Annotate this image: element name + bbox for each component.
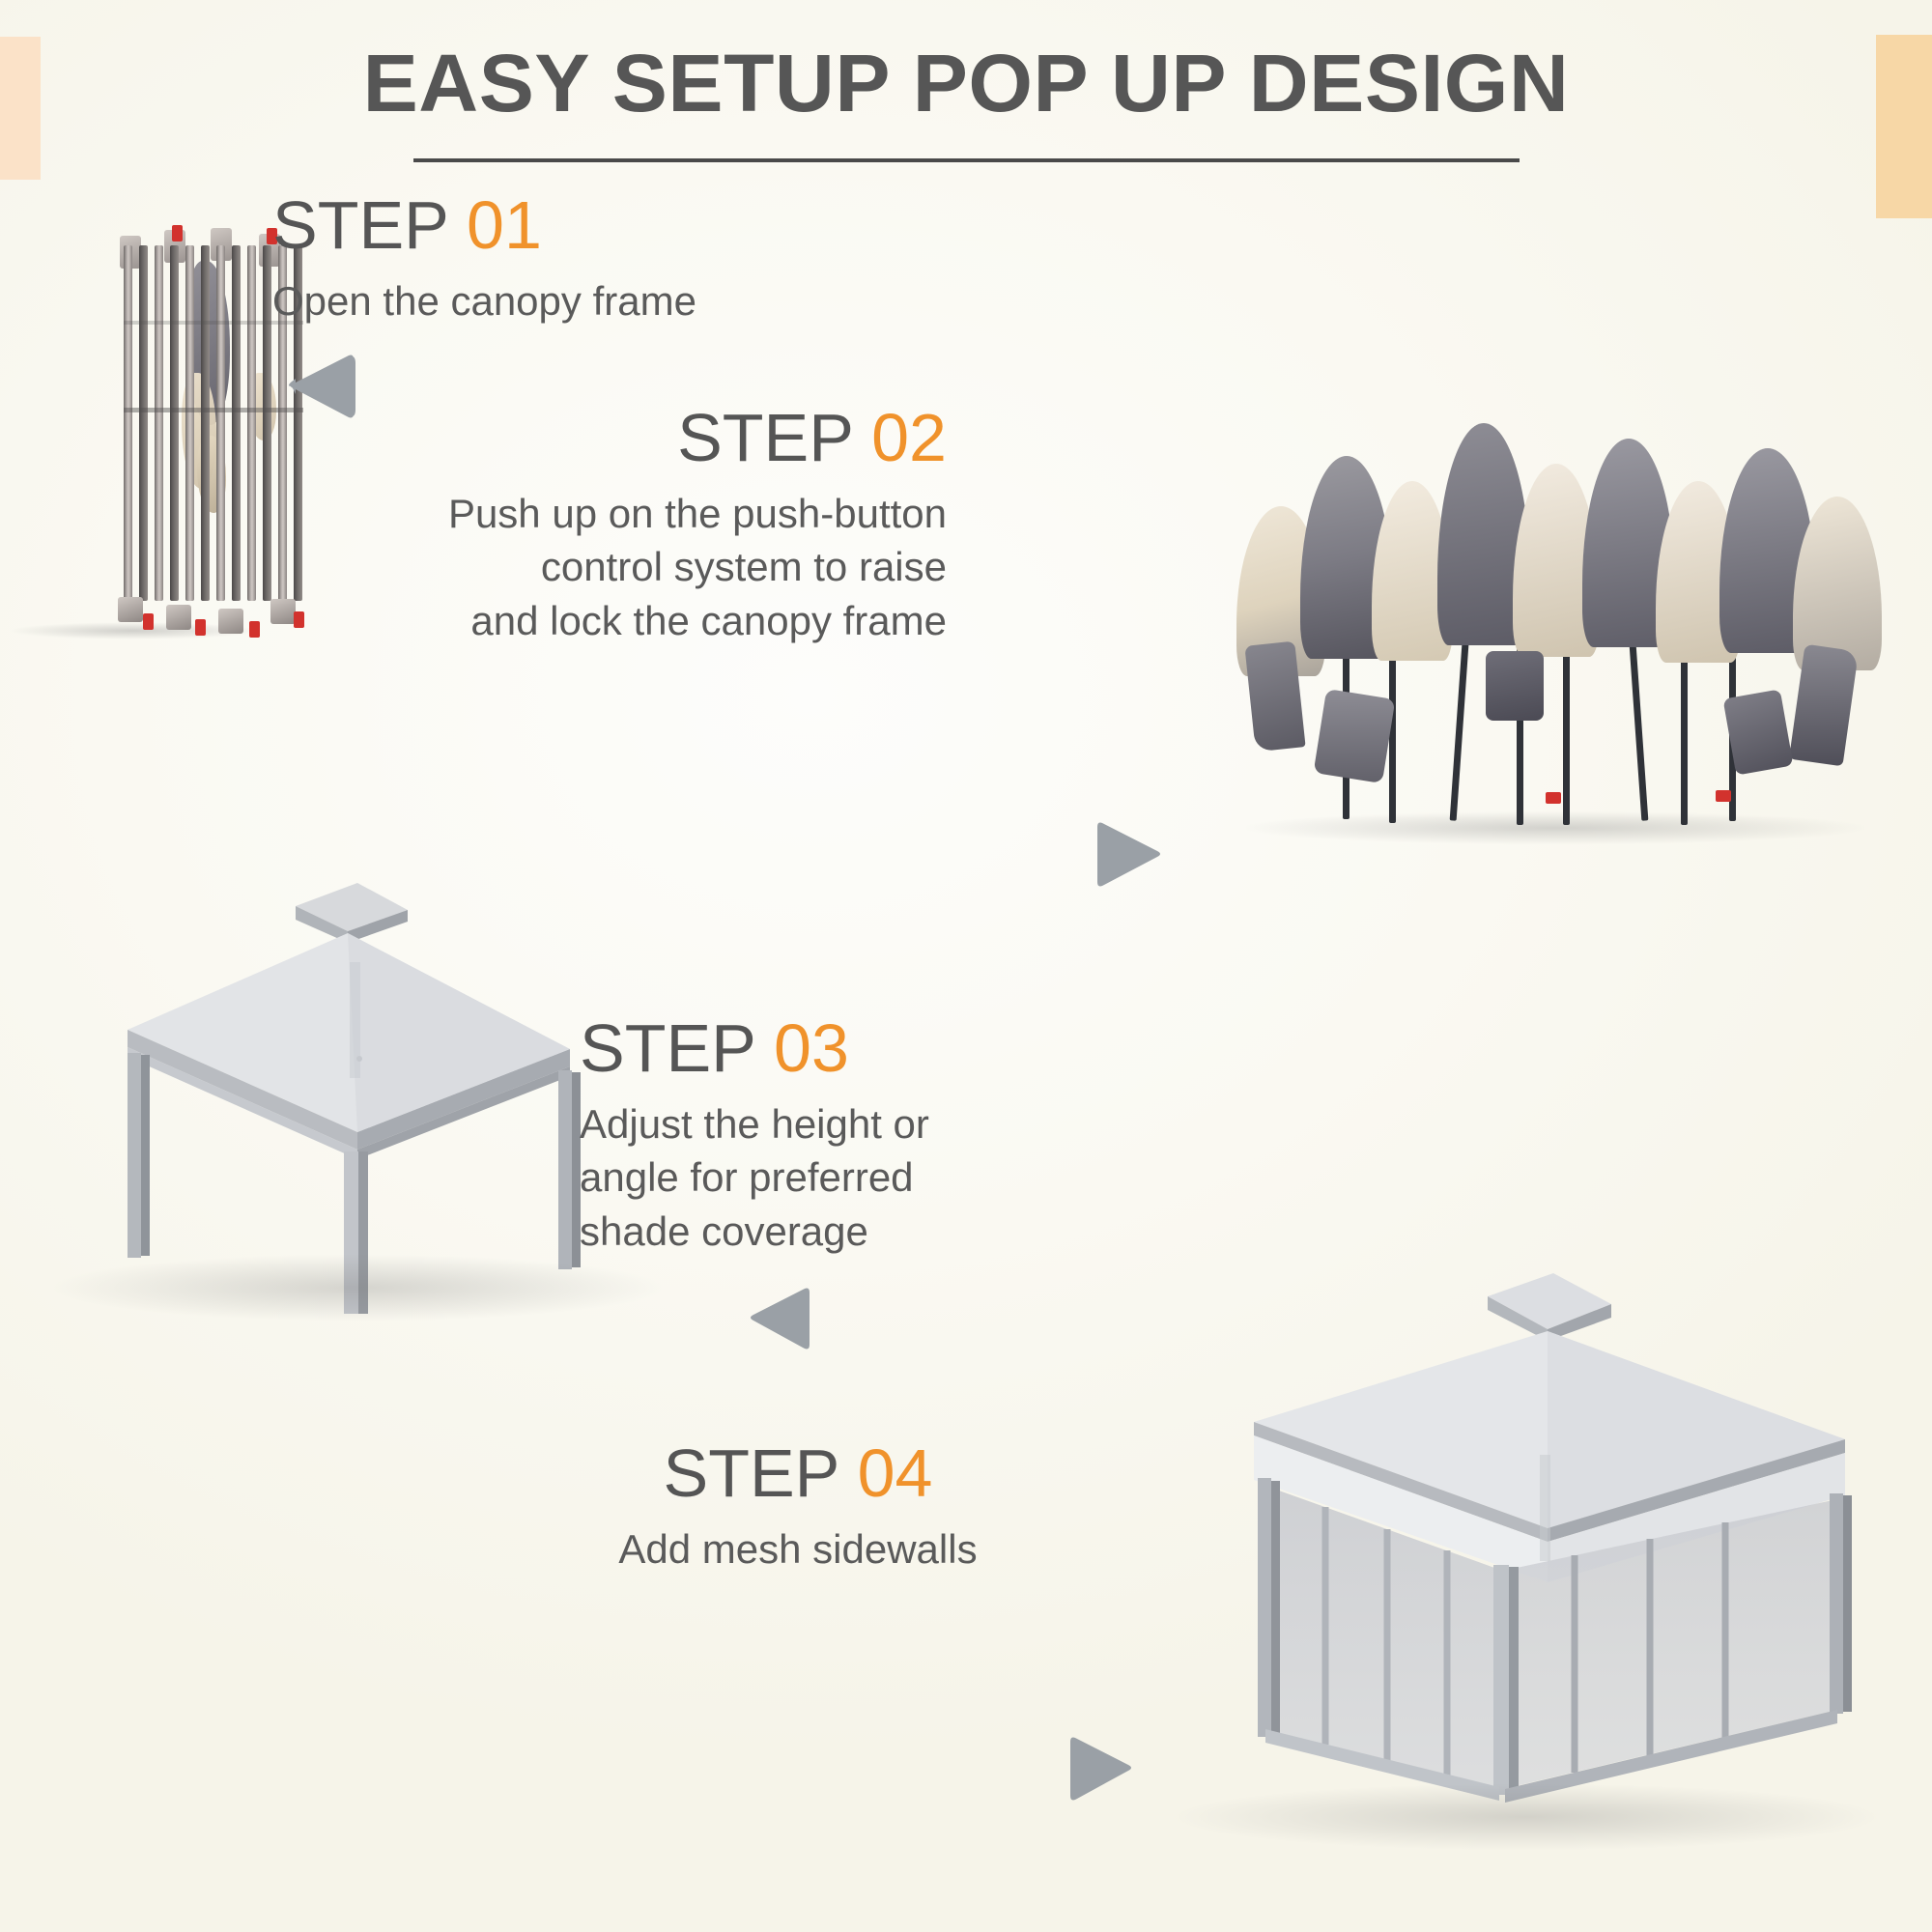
image-shadow xyxy=(1169,1783,1884,1851)
open-gazebo-canopy-image xyxy=(68,869,667,1314)
partially-raised-canopy-image xyxy=(1227,404,1893,848)
step-heading-1: STEP 01 xyxy=(272,191,891,259)
step-description-3: Adjust the height or angle for preferred… xyxy=(580,1097,985,1258)
step-heading-4: STEP 04 xyxy=(547,1439,1049,1507)
title-divider xyxy=(413,158,1520,162)
step-description-3-line-2: angle for preferred xyxy=(580,1151,985,1204)
step-number-2: 02 xyxy=(871,400,947,475)
step-label-1: STEP xyxy=(272,187,448,263)
step-description-4: Add mesh sidewalls xyxy=(547,1522,1049,1576)
step-number-3: 03 xyxy=(774,1010,849,1086)
step-label-2: STEP xyxy=(677,400,853,475)
step-description-2: Push up on the push-button control syste… xyxy=(406,487,947,647)
step-label-3: STEP xyxy=(580,1010,755,1086)
infographic-page: EASY SETUP POP UP DESIGN xyxy=(0,0,1932,1932)
page-title: EASY SETUP POP UP DESIGN xyxy=(0,41,1932,126)
step-description-2-line-2: control system to raise xyxy=(406,540,947,593)
step-description-2-line-3: and lock the canopy frame xyxy=(406,594,947,647)
step-heading-2: STEP 02 xyxy=(406,404,947,471)
header: EASY SETUP POP UP DESIGN xyxy=(0,41,1932,162)
step-number-1: 01 xyxy=(467,187,542,263)
step-description-1: Open the canopy frame xyxy=(272,274,891,327)
step-number-4: 04 xyxy=(858,1435,933,1511)
step-block-4: STEP 04 Add mesh sidewalls xyxy=(547,1439,1049,1576)
image-shadow xyxy=(48,1254,667,1321)
image-shadow xyxy=(1246,811,1864,844)
step-block-3: STEP 03 Adjust the height or angle for p… xyxy=(580,1014,985,1258)
step-description-2-line-1: Push up on the push-button xyxy=(406,487,947,540)
step-description-3-line-1: Adjust the height or xyxy=(580,1097,985,1151)
step-block-1: STEP 01 Open the canopy frame xyxy=(272,191,891,327)
step-block-2: STEP 02 Push up on the push-button contr… xyxy=(406,404,947,647)
step-description-3-line-3: shade coverage xyxy=(580,1205,985,1258)
step-heading-3: STEP 03 xyxy=(580,1014,985,1082)
gazebo-with-mesh-sidewalls-image xyxy=(1150,1246,1913,1845)
step-label-4: STEP xyxy=(664,1435,839,1511)
